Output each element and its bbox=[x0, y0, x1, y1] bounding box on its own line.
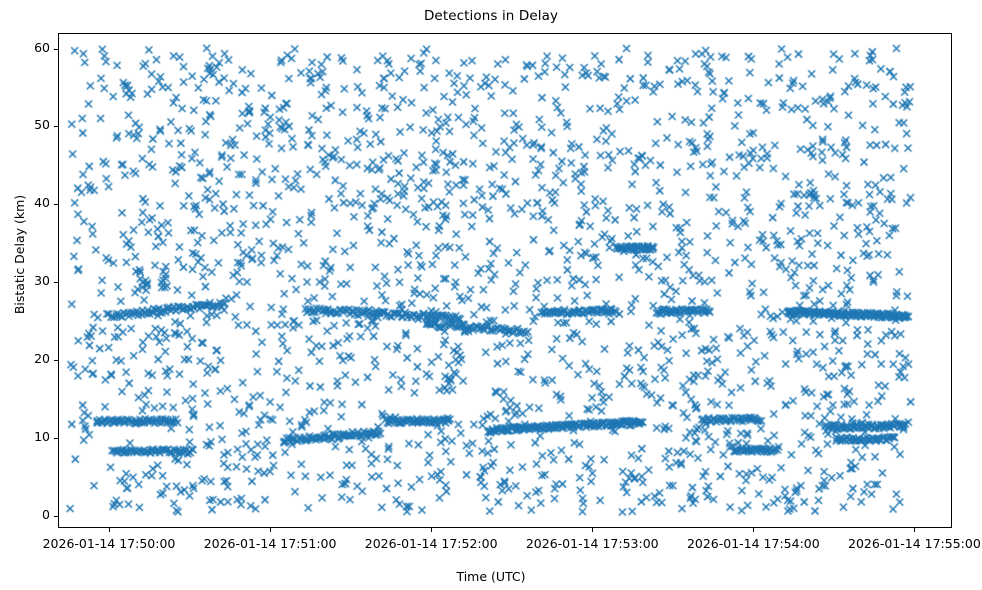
x-tick-label: 2026-01-14 17:52:00 bbox=[351, 536, 511, 551]
x-tick-label: 2026-01-14 17:53:00 bbox=[512, 536, 672, 551]
chart-figure: Detections in Delay 0102030405060 2026-0… bbox=[0, 0, 982, 590]
x-tick-mark bbox=[270, 528, 271, 532]
x-tick-label: 2026-01-14 17:54:00 bbox=[673, 536, 833, 551]
x-tick-mark bbox=[753, 528, 754, 532]
chart-title: Detections in Delay bbox=[0, 8, 982, 24]
x-tick-mark bbox=[431, 528, 432, 532]
x-tick-mark bbox=[109, 528, 110, 532]
scatter-canvas bbox=[59, 34, 951, 527]
x-tick-mark bbox=[592, 528, 593, 532]
y-axis-label: Bistatic Delay (km) bbox=[12, 7, 27, 502]
x-axis-label: Time (UTC) bbox=[0, 569, 982, 584]
plot-area bbox=[58, 33, 952, 528]
x-tick-label: 2026-01-14 17:51:00 bbox=[190, 536, 350, 551]
x-tick-label: 2026-01-14 17:55:00 bbox=[834, 536, 982, 551]
x-tick-label: 2026-01-14 17:50:00 bbox=[29, 536, 189, 551]
x-tick-mark bbox=[914, 528, 915, 532]
y-tick-label: 0 bbox=[10, 507, 50, 522]
